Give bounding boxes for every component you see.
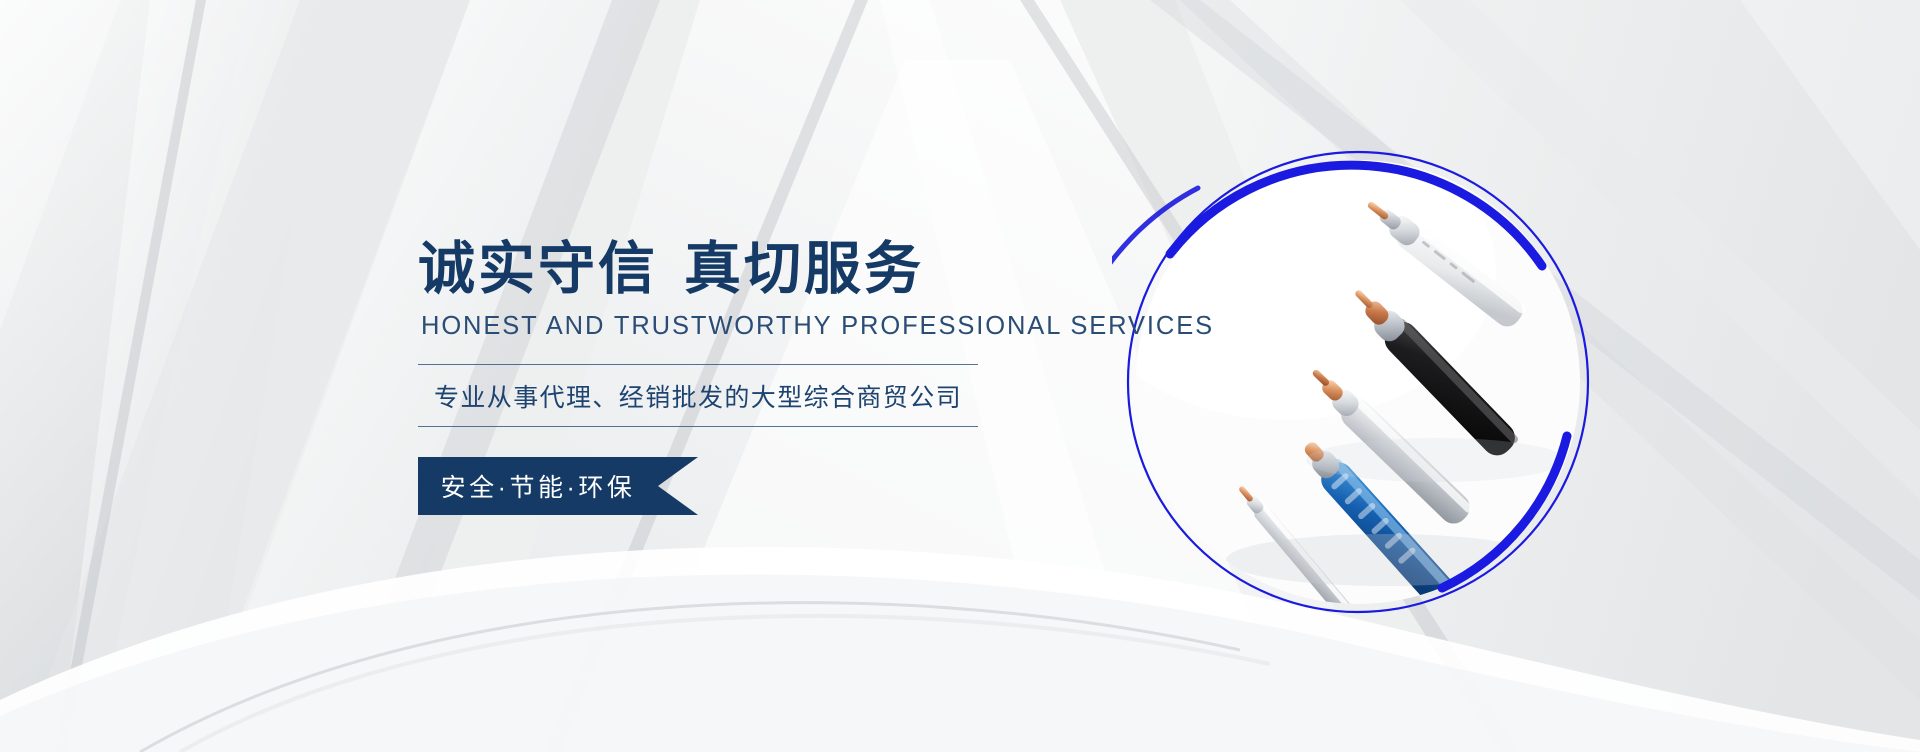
badge-label: 安全·节能·环保: [418, 457, 658, 515]
promo-banner: 诚实守信真切服务 HONEST AND TRUSTWORTHY PROFESSI…: [0, 0, 1920, 752]
headline-part-2: 真切服务: [684, 237, 924, 301]
divider-top: [418, 364, 978, 365]
blue-ring: [1112, 136, 1604, 628]
english-tagline: HONEST AND TRUSTWORTHY PROFESSIONAL SERV…: [421, 312, 1078, 341]
banner-text-block: 诚实守信真切服务 HONEST AND TRUSTWORTHY PROFESSI…: [418, 238, 1078, 515]
ring-thick-top-arc: [1170, 165, 1542, 266]
subtitle-group: 专业从事代理、经销批发的大型综合商贸公司: [418, 364, 978, 427]
divider-bottom: [418, 426, 978, 427]
ring-outer-accent-arc: [1112, 188, 1198, 306]
headline-part-1: 诚实守信: [418, 237, 658, 301]
subtitle: 专业从事代理、经销批发的大型综合商贸公司: [418, 365, 978, 426]
page-title: 诚实守信真切服务: [418, 238, 1078, 302]
product-circle-graphic: [1128, 152, 1588, 612]
status-badge: 安全·节能·环保: [418, 457, 698, 515]
